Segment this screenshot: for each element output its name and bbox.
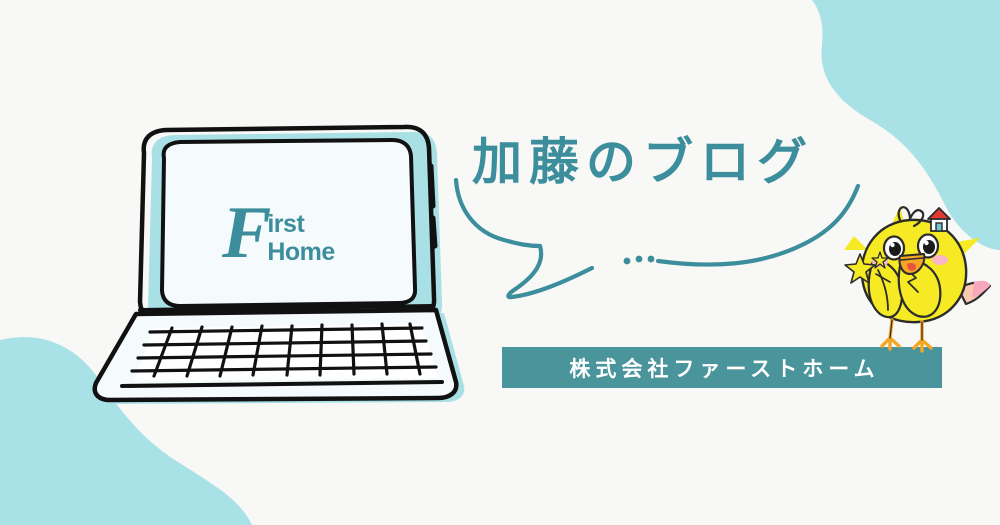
- chick-icon: [838, 192, 1000, 362]
- logo-word-first: irst: [267, 211, 334, 237]
- speech-bubble-icon: [440, 178, 880, 318]
- logo-word-home: Home: [267, 237, 334, 267]
- chick-mascot: [838, 192, 1000, 362]
- laptop-port-bottom: [433, 218, 435, 246]
- speech-bubble-dots: [624, 256, 655, 265]
- logo-initial: F: [222, 203, 269, 264]
- first-home-logo: F irst Home: [222, 190, 352, 276]
- speech-bubble-left-curve: [456, 180, 540, 246]
- speech-bubble-tail: [508, 246, 592, 297]
- speech-bubble-right-curve: [658, 186, 858, 265]
- logo-wordmark: irst Home: [267, 199, 334, 267]
- chick-feet: [882, 320, 931, 351]
- banner-canvas: F irst Home 加藤のブログ 株式会社ファーストホーム: [0, 0, 1000, 525]
- house-icon: [928, 208, 950, 231]
- company-name-label: 株式会社ファーストホーム: [564, 353, 879, 383]
- laptop-port-top: [431, 166, 433, 206]
